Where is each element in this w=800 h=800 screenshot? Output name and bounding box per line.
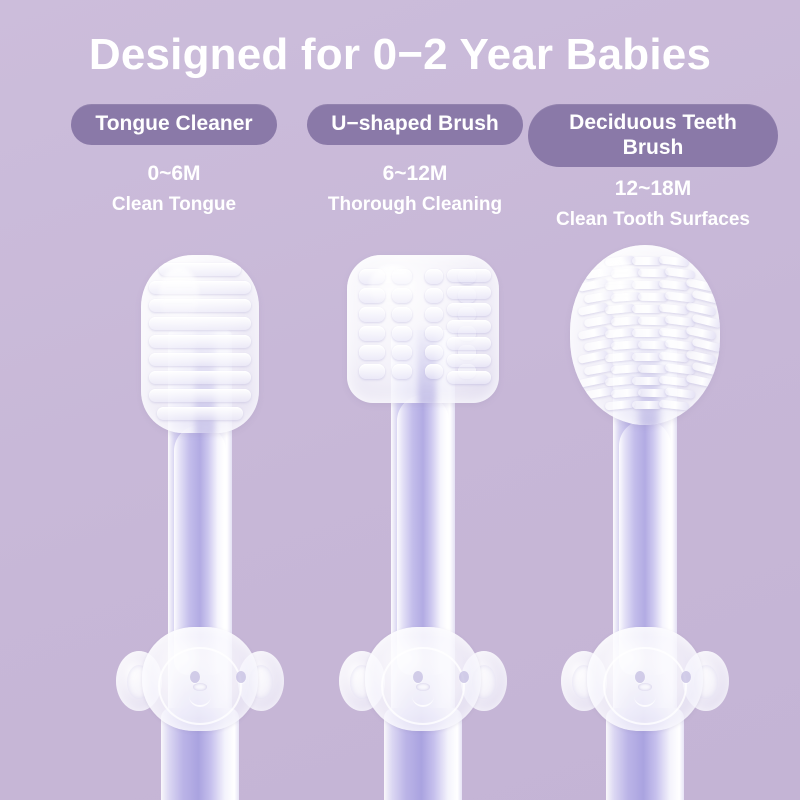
guard-nose	[416, 683, 430, 691]
brush-head-tongue-cleaner	[141, 255, 259, 433]
guard-eye-right	[681, 671, 691, 683]
badge-u-shaped-brush[interactable]: U−shaped Brush	[307, 104, 522, 145]
product-image-u-shaped-brush	[318, 255, 528, 800]
guard-face	[587, 627, 703, 731]
brush-head-u-shaped	[347, 255, 499, 403]
monkey-face-guard-icon	[561, 627, 729, 731]
feature-column-u-shaped-brush: U−shaped Brush 6~12M Thorough Cleaning	[292, 104, 538, 217]
description-deciduous-teeth-brush: Clean Tooth Surfaces	[528, 208, 778, 232]
feature-column-deciduous-teeth-brush: Deciduous Teeth Brush 12~18M Clean Tooth…	[528, 104, 778, 232]
monkey-face-guard-icon	[116, 627, 284, 731]
guard-eye-right	[459, 671, 469, 683]
bristle-grid-icon	[359, 269, 489, 391]
bristle-cluster-icon	[570, 245, 720, 425]
feature-column-tongue-cleaner: Tongue Cleaner 0~6M Clean Tongue	[44, 104, 304, 217]
feature-columns: Tongue Cleaner 0~6M Clean Tongue U−shape…	[0, 104, 800, 244]
guard-eye-left	[413, 671, 423, 683]
brush-head-deciduous	[570, 245, 720, 425]
page-title: Designed for 0−2 Year Babies	[0, 27, 800, 83]
guard-nose	[638, 683, 652, 691]
monkey-face-guard-icon	[339, 627, 507, 731]
guard-eye-left	[190, 671, 200, 683]
guard-eye-right	[236, 671, 246, 683]
badge-deciduous-teeth-brush[interactable]: Deciduous Teeth Brush	[528, 104, 778, 167]
age-range-u-shaped-brush: 6~12M	[292, 161, 538, 187]
product-image-deciduous-teeth-brush	[540, 245, 750, 800]
guard-face	[142, 627, 258, 731]
badge-tongue-cleaner[interactable]: Tongue Cleaner	[71, 104, 276, 145]
product-image-tongue-cleaner	[100, 255, 300, 800]
guard-nose	[193, 683, 207, 691]
age-range-tongue-cleaner: 0~6M	[44, 161, 304, 187]
ridge-group-icon	[147, 263, 253, 423]
description-tongue-cleaner: Clean Tongue	[44, 193, 304, 217]
guard-face	[365, 627, 481, 731]
description-u-shaped-brush: Thorough Cleaning	[292, 193, 538, 217]
guard-eye-left	[635, 671, 645, 683]
age-range-deciduous-teeth-brush: 12~18M	[528, 176, 778, 202]
product-infographic: Designed for 0−2 Year Babies Tongue Clea…	[0, 0, 800, 800]
